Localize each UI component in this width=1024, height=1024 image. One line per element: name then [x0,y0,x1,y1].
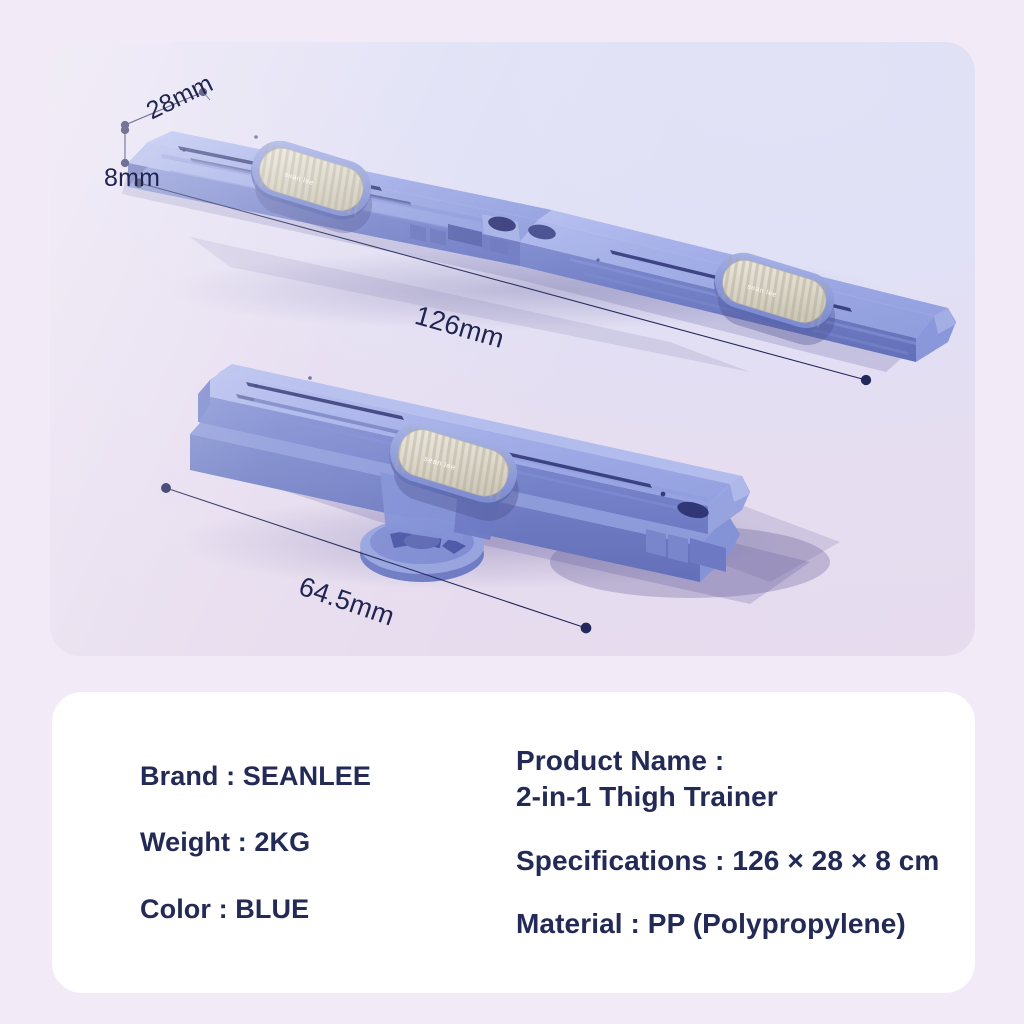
spec-specifications: Specifications : 126 × 28 × 8 cm [516,843,975,879]
product-image-card: sean lee sean lee [50,42,975,656]
product-info-card: Brand : SEANLEE Weight : 2KG Color : BLU… [52,692,975,993]
spec-grid: Brand : SEANLEE Weight : 2KG Color : BLU… [52,692,975,993]
dimension-label-height: 8mm [104,164,160,193]
foot-pad-right: sean lee [703,246,846,352]
spec-column-right: Product Name : 2-in-1 Thigh Trainer Spec… [506,743,975,942]
spec-product-name: Product Name : 2-in-1 Thigh Trainer [516,743,975,815]
spec-material: Material : PP (Polypropylene) [516,906,975,942]
spec-color: Color : BLUE [140,892,506,927]
spec-product-name-value: 2-in-1 Thigh Trainer [516,779,975,815]
product-illustration: sean lee sean lee [50,42,975,656]
spec-column-left: Brand : SEANLEE Weight : 2KG Color : BLU… [88,743,506,942]
product-infographic-page: sean lee sean lee [0,0,1024,1024]
spec-weight: Weight : 2KG [140,825,506,860]
spec-product-name-label: Product Name : [516,743,975,779]
spec-brand: Brand : SEANLEE [140,759,506,794]
